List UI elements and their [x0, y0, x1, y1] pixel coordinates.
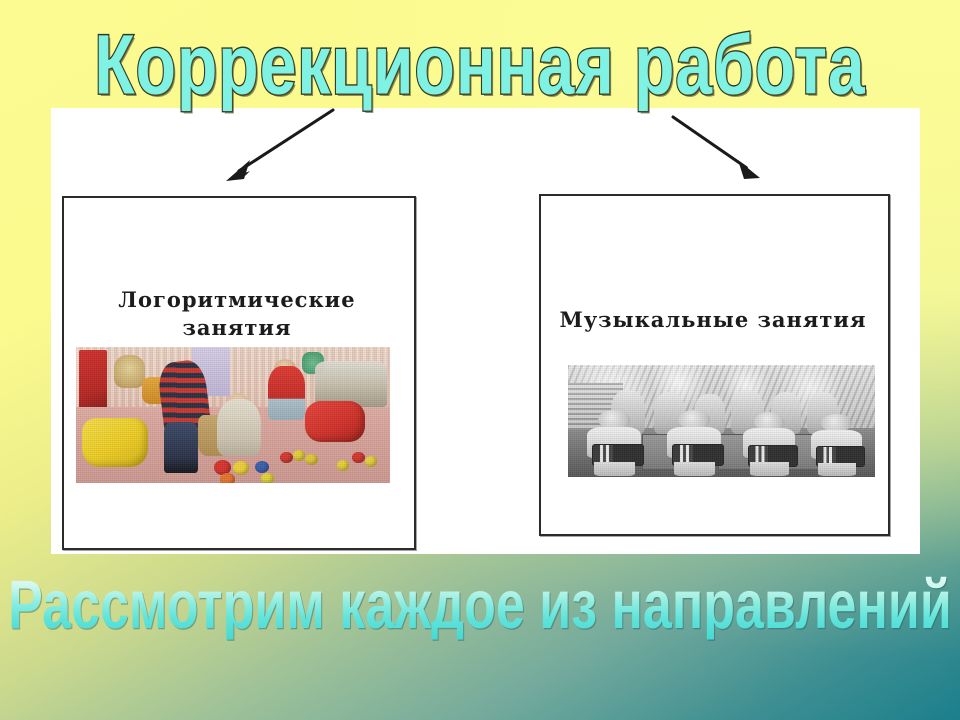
photo-ball: [337, 460, 350, 471]
box-logorhythmics-caption: Логоритмические занятия: [70, 286, 404, 343]
photo-child-red-shirt: [268, 366, 306, 420]
children-with-accordions-photo: [568, 365, 875, 477]
photo-seated-children: [315, 361, 387, 407]
photo-ball: [261, 473, 274, 483]
photo-decoration-1: [114, 355, 145, 388]
photo-front-row-child: [583, 410, 644, 475]
photo-red-curtain: [79, 350, 107, 407]
photo-ball: [233, 461, 249, 475]
photo-yellow-basket: [82, 418, 148, 467]
photo-ball: [280, 452, 293, 463]
presentation-slide: Коррекционная работа Логоритмические зан…: [0, 0, 960, 720]
box-music-lessons-caption: Музыкальные занятия: [545, 306, 881, 334]
photo-ball: [365, 456, 378, 467]
photo-ball: [352, 452, 365, 463]
photo-child-legs: [674, 462, 715, 476]
photo-child-legs: [594, 462, 635, 476]
photo-red-basket: [305, 401, 365, 442]
page-title: Коррекционная работа: [0, 22, 960, 106]
photo-front-row-child: [807, 414, 865, 474]
photo-front-row-child: [663, 410, 724, 475]
bottom-caption: Рассмотрим каждое из направлений: [0, 571, 960, 640]
photo-child-legs: [818, 463, 856, 476]
photo-child-legs: [750, 462, 788, 476]
photo-ball: [220, 473, 234, 483]
photo-crouching-child: [217, 399, 261, 456]
photo-front-row-child: [740, 412, 798, 475]
children-playing-with-balls-photo: [76, 347, 390, 483]
photo-child-striped-shirt-legs: [164, 422, 199, 474]
